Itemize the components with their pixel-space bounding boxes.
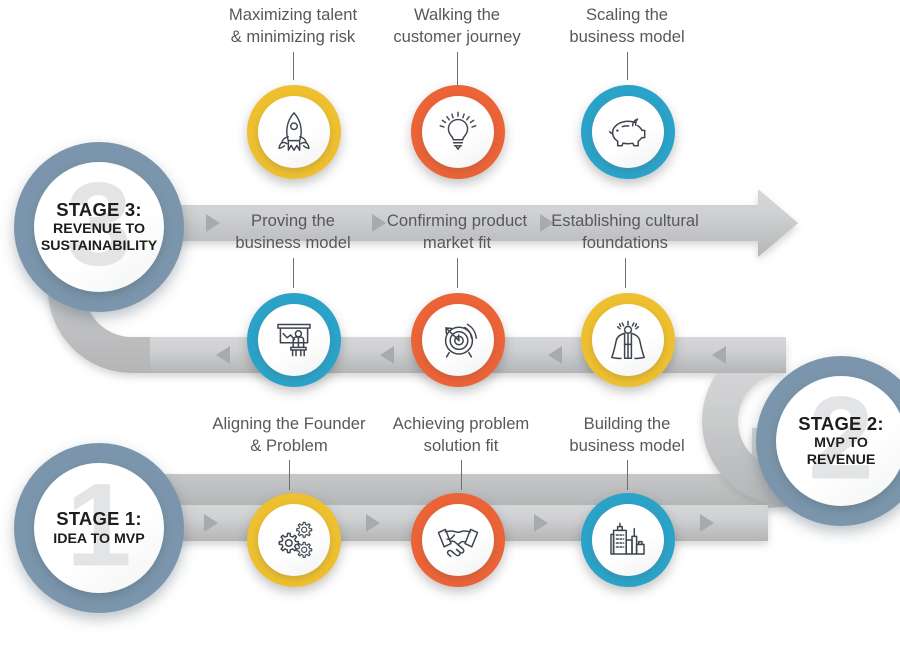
stage-3-subtitle: REVENUE TO SUSTAINABILITY (34, 221, 164, 254)
label-node-presentation: Proving the business model (203, 210, 383, 253)
infographic-canvas: Maximizing talent & minimizing risk Walk… (0, 0, 900, 652)
stem-top-1 (293, 52, 294, 80)
lightbulb-icon (435, 109, 481, 155)
stem-bottom-3 (627, 460, 628, 490)
node-gears[interactable] (247, 493, 341, 587)
label-node-gears: Aligning the Founder & Problem (189, 413, 389, 456)
node-lightbulb[interactable] (411, 85, 505, 179)
stem-top-2 (457, 52, 458, 86)
stage-3-title: STAGE 3: (56, 200, 142, 221)
gears-icon (270, 516, 318, 564)
stem-middle-1 (293, 258, 294, 288)
presentation-icon (270, 316, 318, 364)
stem-middle-2 (457, 258, 458, 288)
rocket-icon (271, 109, 317, 155)
label-node-buildings: Building the business model (541, 413, 713, 456)
node-piggybank[interactable] (581, 85, 675, 179)
node-buildings[interactable] (581, 493, 675, 587)
label-node-superhero: Establishing cultural foundations (539, 210, 711, 253)
node-handshake[interactable] (411, 493, 505, 587)
superhero-icon (604, 316, 652, 364)
buildings-icon (604, 516, 652, 564)
stage-1-badge[interactable]: 1 STAGE 1: IDEA TO MVP (14, 443, 184, 613)
label-node-piggybank: Scaling the business model (537, 4, 717, 47)
stem-middle-3 (625, 258, 626, 288)
piggybank-icon (604, 108, 652, 156)
node-superhero[interactable] (581, 293, 675, 387)
stage-2-title: STAGE 2: (798, 414, 884, 435)
label-node-target: Confirming product market fit (367, 210, 547, 253)
stage-1-title: STAGE 1: (56, 509, 142, 530)
label-node-handshake: Achieving problem solution fit (373, 413, 549, 456)
stage-2-subtitle: MVP TO REVENUE (776, 435, 900, 468)
stem-bottom-2 (461, 460, 462, 490)
stage-3-badge[interactable]: 3 STAGE 3: REVENUE TO SUSTAINABILITY (14, 142, 184, 312)
stage-1-subtitle: IDEA TO MVP (45, 531, 152, 547)
stage-2-badge[interactable]: 2 STAGE 2: MVP TO REVENUE (756, 356, 900, 526)
node-presentation[interactable] (247, 293, 341, 387)
target-icon (434, 316, 482, 364)
node-rocket[interactable] (247, 85, 341, 179)
stem-top-3 (627, 52, 628, 80)
node-target[interactable] (411, 293, 505, 387)
label-node-lightbulb: Walking the customer journey (357, 4, 557, 47)
stem-bottom-1 (289, 460, 290, 490)
handshake-icon (434, 516, 482, 564)
